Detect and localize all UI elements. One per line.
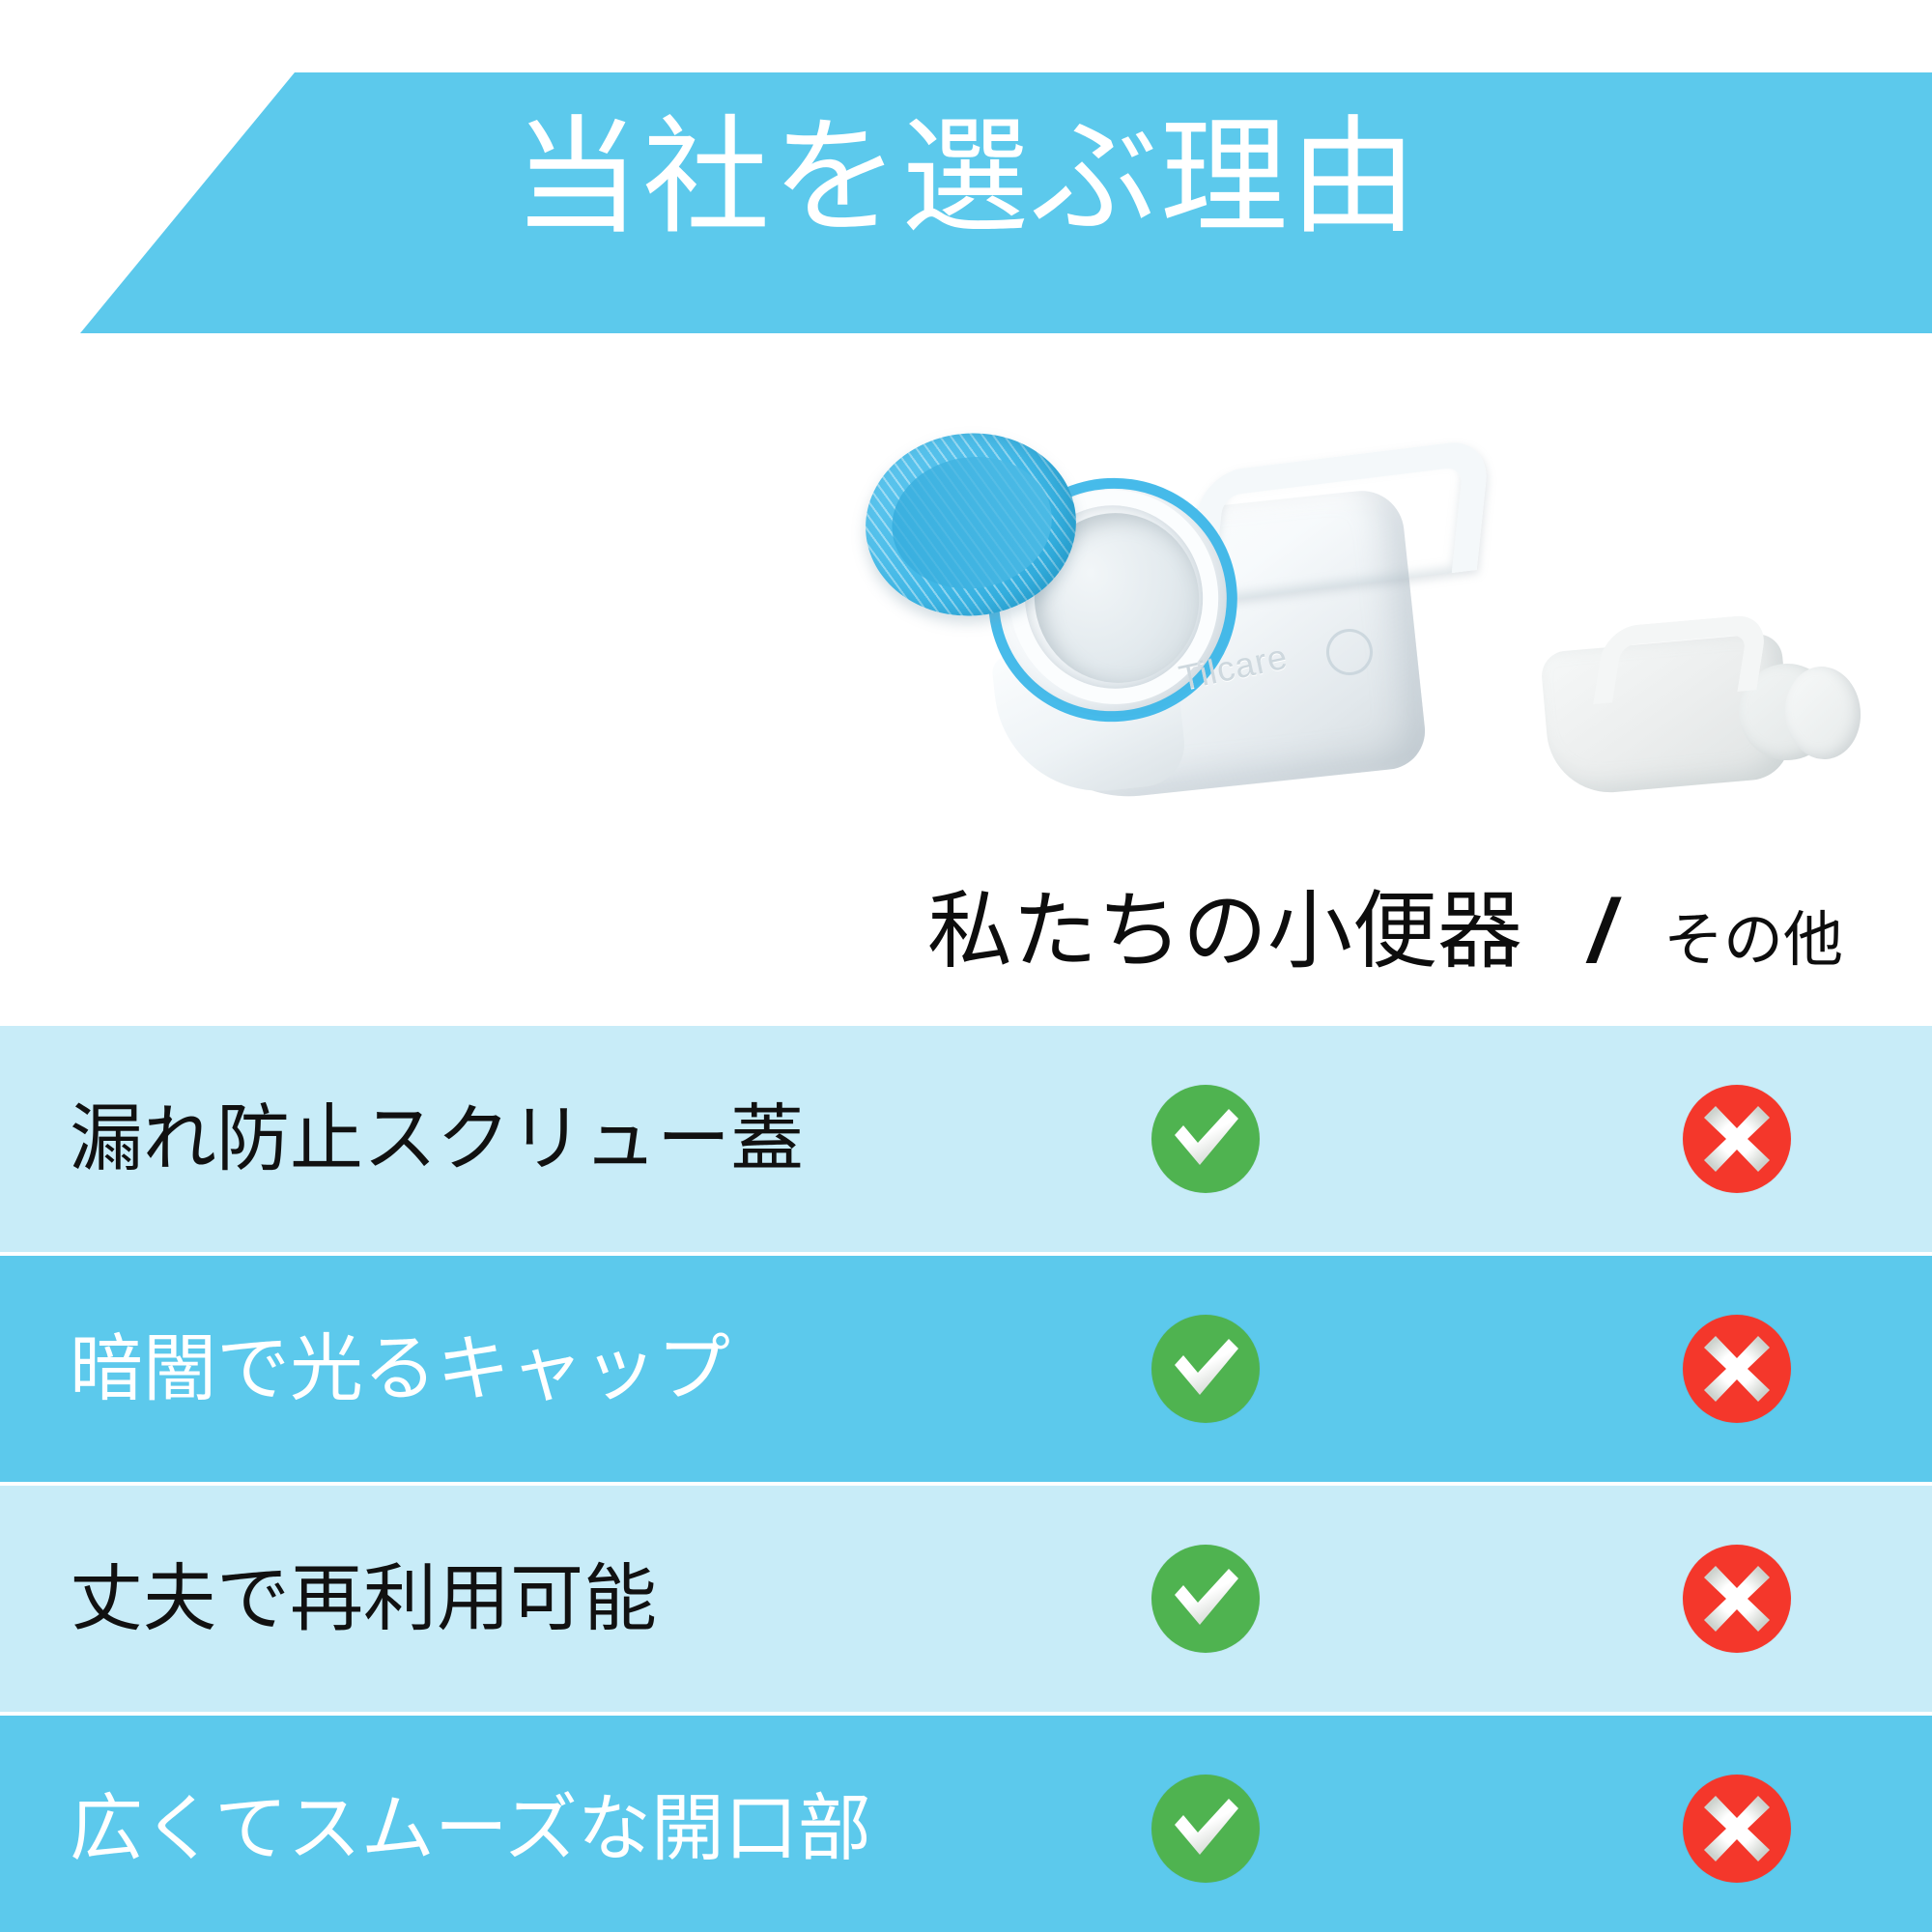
alt-urinal-handle-shape <box>1593 613 1769 704</box>
check-circle-icon <box>1151 1085 1260 1193</box>
x-circle-icon <box>1683 1085 1791 1193</box>
urinal-cap-inner <box>867 439 1076 607</box>
comparison-row: 丈夫で再利用可能 <box>0 1486 1932 1712</box>
check-circle-icon <box>1151 1775 1260 1883</box>
column-separator: / <box>1589 887 1614 976</box>
column-label-ours: 私たちの小便器 <box>927 889 1522 974</box>
x-circle-icon <box>1683 1775 1791 1883</box>
column-header: 私たちの小便器 / その他 <box>0 889 1932 1024</box>
comparison-row: 暗闇で光るキャップ <box>0 1256 1932 1482</box>
feature-label: 丈夫で再利用可能 <box>70 1562 657 1635</box>
infographic-page: 当社を選ぶ理由 Tilcare 私たちの小便器 / その他 <box>0 0 1932 1932</box>
x-circle-icon <box>1683 1315 1791 1423</box>
column-label-other: その他 <box>1663 910 1843 970</box>
check-circle-icon <box>1151 1315 1260 1423</box>
alt-product-image <box>1546 613 1874 816</box>
feature-label: 暗闇で光るキャップ <box>70 1332 730 1406</box>
comparison-row: 漏れ防止スクリュー蓋 <box>0 1026 1932 1252</box>
page-title: 当社を選ぶ理由 <box>0 114 1932 241</box>
feature-label: 広くてスムーズな開口部 <box>70 1792 871 1865</box>
comparison-row: 広くてスムーズな開口部 <box>0 1716 1932 1932</box>
comparison-table: 漏れ防止スクリュー蓋暗闇で光るキャップ丈夫で再利用可能広くてスムーズな開口部 <box>0 1026 1932 1932</box>
feature-label: 漏れ防止スクリュー蓋 <box>70 1102 804 1176</box>
check-circle-icon <box>1151 1545 1260 1653</box>
main-product-image: Tilcare <box>874 440 1473 855</box>
x-circle-icon <box>1683 1545 1791 1653</box>
